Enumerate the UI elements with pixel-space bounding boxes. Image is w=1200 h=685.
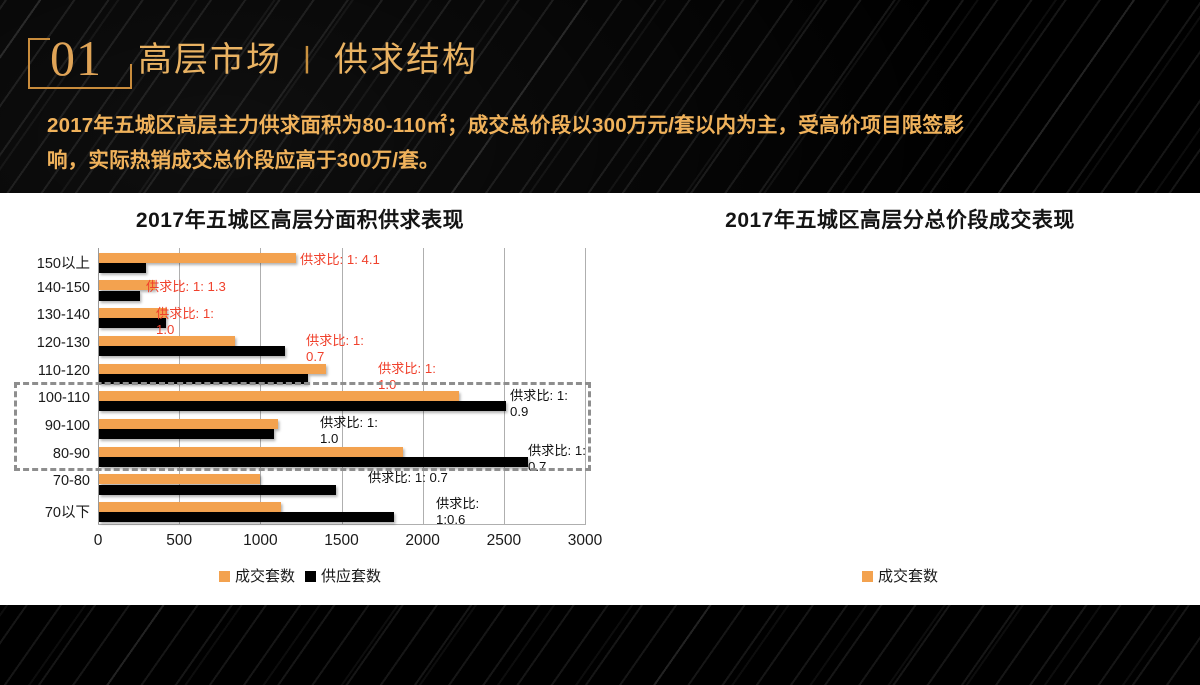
gridline-x-2500 [504,248,505,525]
category-label-130-140: 130-140 [0,307,90,323]
ratio-annotation-90-100: 供求比: 1: 1.0 [320,415,392,446]
category-label-100-110: 100-110 [0,390,90,406]
section-number-badge: 01 [28,30,136,90]
x-tick-500: 500 [144,532,214,550]
title-separator: 丨 [282,45,334,78]
slide: 01 高层市场丨供求结构 2017年五城区高层主力供求面积为80-110㎡；成交… [0,0,1200,685]
bar-供应套数-80-90 [99,457,528,467]
category-label-110-120: 110-120 [0,363,90,379]
category-label-140-150: 140-150 [0,280,90,296]
ratio-annotation-150以上: 供求比: 1: 4.1 [300,252,430,268]
chart-title-left: 2017年五城区高层分面积供求表现 [0,204,600,234]
lead-line-2: 响，实际热销成交总价段应高于300万/套。 [47,143,1162,178]
legend-swatch-成交套数 [862,571,873,582]
bracket-right [130,64,132,89]
bar-成交套数-70以下 [99,502,281,512]
bar-成交套数-150以上 [99,253,296,263]
x-tick-1500: 1500 [307,532,377,550]
ratio-annotation-100-110: 供求比: 1: 0.9 [510,388,588,419]
ratio-annotation-130-140: 供求比: 1: 1.0 [156,306,228,337]
content-area: 2017年五城区高层分面积供求表现 150以上140-150130-140120… [0,193,1200,605]
bar-供应套数-90-100 [99,429,274,439]
legend-swatch-供应套数 [305,571,316,582]
axis-baseline [98,524,585,525]
bar-供应套数-100-110 [99,401,506,411]
category-label-90-100: 90-100 [0,418,90,434]
legend-item-供应套数: 供应套数 [305,568,381,585]
gridline-x-3000 [585,248,586,525]
bar-成交套数-120-130 [99,336,235,346]
bracket-top-left [28,38,50,40]
bar-成交套数-80-90 [99,447,403,457]
category-label-150以上: 150以上 [0,252,90,273]
bar-成交套数-70-80 [99,474,260,484]
ratio-annotation-70以下: 供求比: 1:0.6 [436,496,506,527]
category-label-70-80: 70-80 [0,473,90,489]
x-tick-2500: 2500 [469,532,539,550]
bar-供应套数-150以上 [99,263,146,273]
legend-label-成交套数: 成交套数 [235,568,295,585]
bar-成交套数-110-120 [99,364,326,374]
chart-legend-left: 成交套数供应套数 [0,565,600,586]
x-tick-2000: 2000 [388,532,458,550]
legend-label-供应套数: 供应套数 [321,568,381,585]
ratio-annotation-140-150: 供求比: 1: 1.3 [146,279,276,295]
slide-header: 01 高层市场丨供求结构 2017年五城区高层主力供求面积为80-110㎡；成交… [0,0,1200,193]
category-label-120-130: 120-130 [0,335,90,351]
chart-panel-price-band: 2017年五城区高层分总价段成交表现 500以上507450-500226400… [600,193,1200,605]
category-label-70以下: 70以下 [0,501,90,522]
lead-paragraph: 2017年五城区高层主力供求面积为80-110㎡；成交总价段以300万元/套以内… [47,108,1162,179]
ratio-annotation-70-80: 供求比: 1: 0.7 [368,470,498,486]
legend-item-成交套数: 成交套数 [862,568,938,585]
chart-panel-area-supply-demand: 2017年五城区高层分面积供求表现 150以上140-150130-140120… [0,193,600,605]
chart-legend-right: 成交套数 [600,565,1200,586]
ratio-annotation-80-90: 供求比: 1: 0.7 [528,443,600,474]
page-title: 高层市场丨供求结构 [138,36,478,86]
lead-line-1: 2017年五城区高层主力供求面积为80-110㎡；成交总价段以300万元/套以内… [47,108,1162,143]
legend-label-成交套数: 成交套数 [878,568,938,585]
bar-供应套数-70以下 [99,512,394,522]
bracket-left [28,38,30,88]
gridline-x-1500 [342,248,343,525]
bar-供应套数-120-130 [99,346,285,356]
page-title-main: 高层市场 [138,41,282,79]
bar-供应套数-140-150 [99,291,140,301]
chart-title-right: 2017年五城区高层分总价段成交表现 [600,204,1200,234]
category-label-80-90: 80-90 [0,446,90,462]
ratio-annotation-110-120: 供求比: 1: 1.0 [378,361,450,392]
x-tick-0: 0 [63,532,133,550]
page-title-sub: 供求结构 [334,41,478,79]
bar-成交套数-100-110 [99,391,459,401]
plot-area-left: 150以上140-150130-140120-130110-120100-110… [98,248,585,525]
legend-item-成交套数: 成交套数 [219,568,295,585]
x-tick-1000: 1000 [225,532,295,550]
section-number: 01 [50,28,102,88]
legend-swatch-成交套数 [219,571,230,582]
bar-供应套数-70-80 [99,485,336,495]
bar-供应套数-110-120 [99,374,308,384]
ratio-annotation-120-130: 供求比: 1: 0.7 [306,333,378,364]
bar-成交套数-90-100 [99,419,278,429]
